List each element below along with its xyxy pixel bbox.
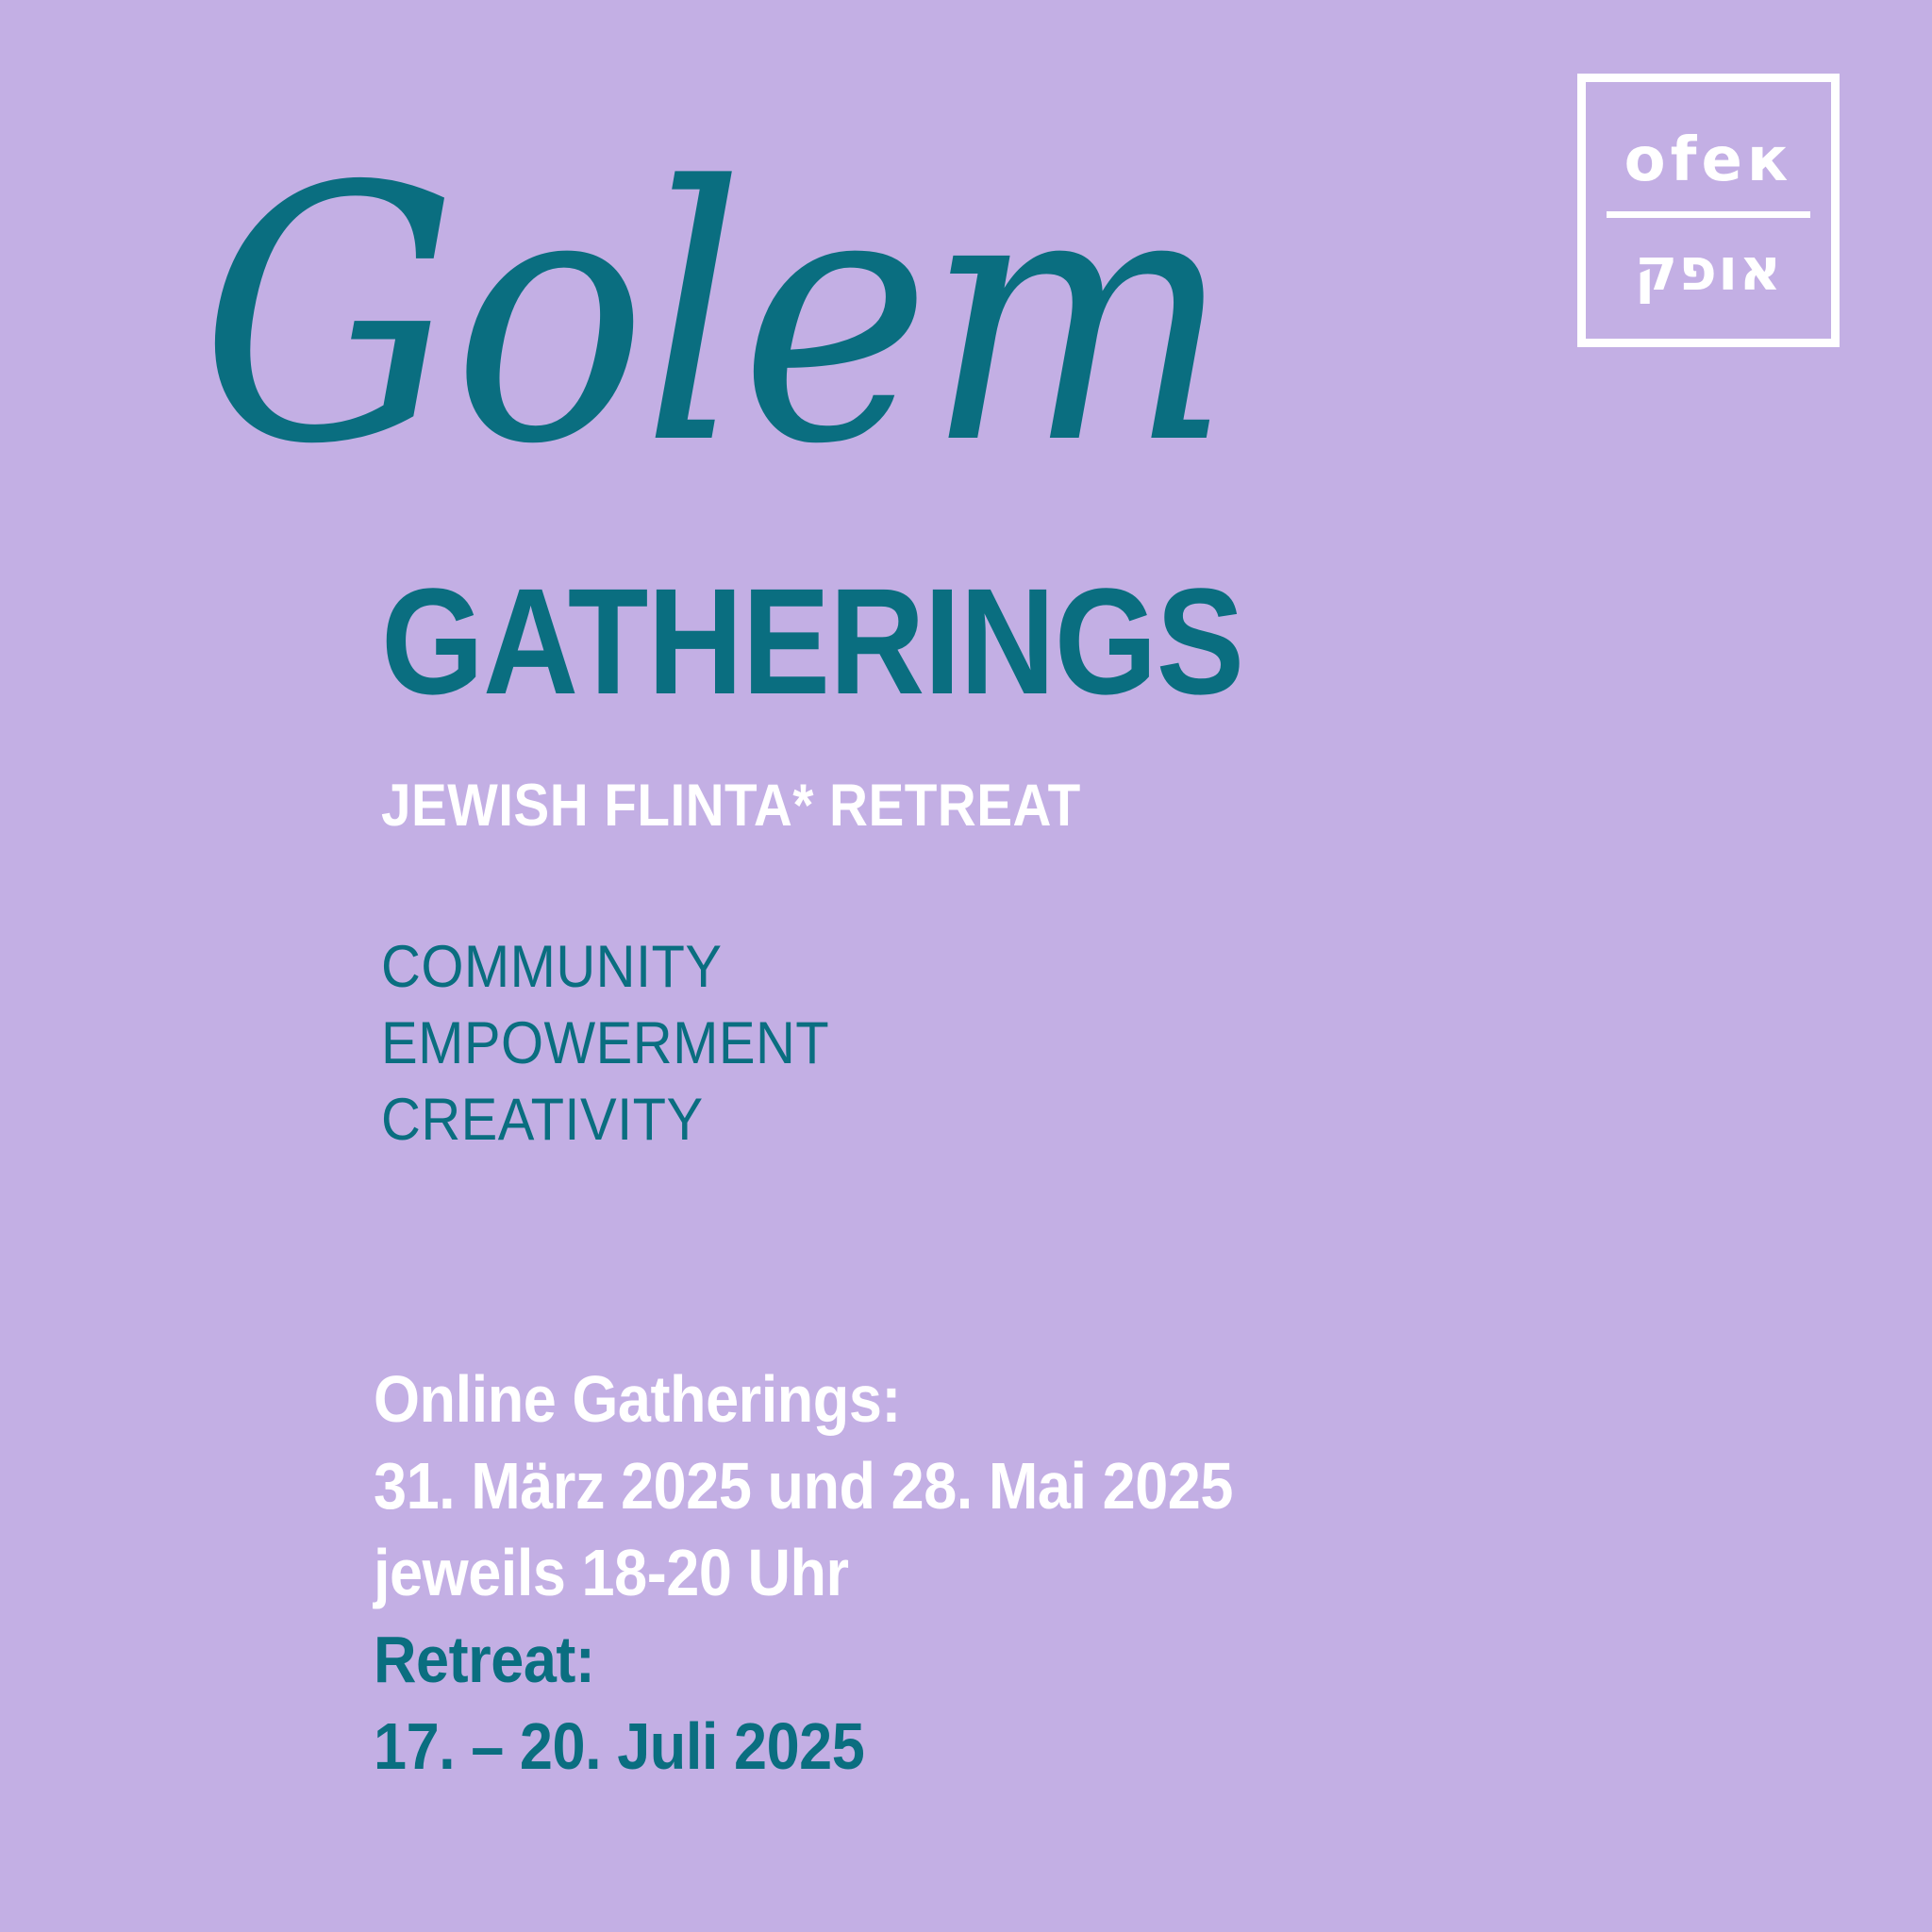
logo-divider-rule: [1607, 211, 1810, 218]
subheadline: JEWISH FLINTA* RETREAT: [381, 776, 1081, 836]
ofek-logo: ofeк אופק: [1577, 74, 1840, 347]
dates-block: Online Gatherings: 31. März 2025 und 28.…: [374, 1356, 1233, 1790]
value-item-community: COMMUNITY: [381, 929, 829, 1006]
poster-canvas: ofeк אופק Golem GATHERINGS JEWISH FLINTA…: [0, 0, 1932, 1932]
title-wordmark-gatherings: GATHERINGS: [381, 566, 1243, 717]
logo-hebrew-text: אופק: [1635, 241, 1783, 299]
date-line-retreat-dates: 17. – 20. Juli 2025: [374, 1703, 1233, 1790]
values-list: COMMUNITY EMPOWERMENT CREATIVITY: [381, 929, 829, 1158]
value-item-empowerment: EMPOWERMENT: [381, 1006, 829, 1082]
date-line-retreat-label: Retreat:: [374, 1616, 1233, 1703]
date-line-online-dates: 31. März 2025 und 28. Mai 2025: [374, 1442, 1233, 1529]
value-item-creativity: CREATIVITY: [381, 1082, 829, 1158]
title-script-golem: Golem: [200, 142, 1226, 492]
date-line-online-time: jeweils 18-20 Uhr: [374, 1529, 1233, 1616]
date-line-online-label: Online Gatherings:: [374, 1356, 1233, 1442]
logo-latin-text: ofeк: [1624, 130, 1793, 191]
